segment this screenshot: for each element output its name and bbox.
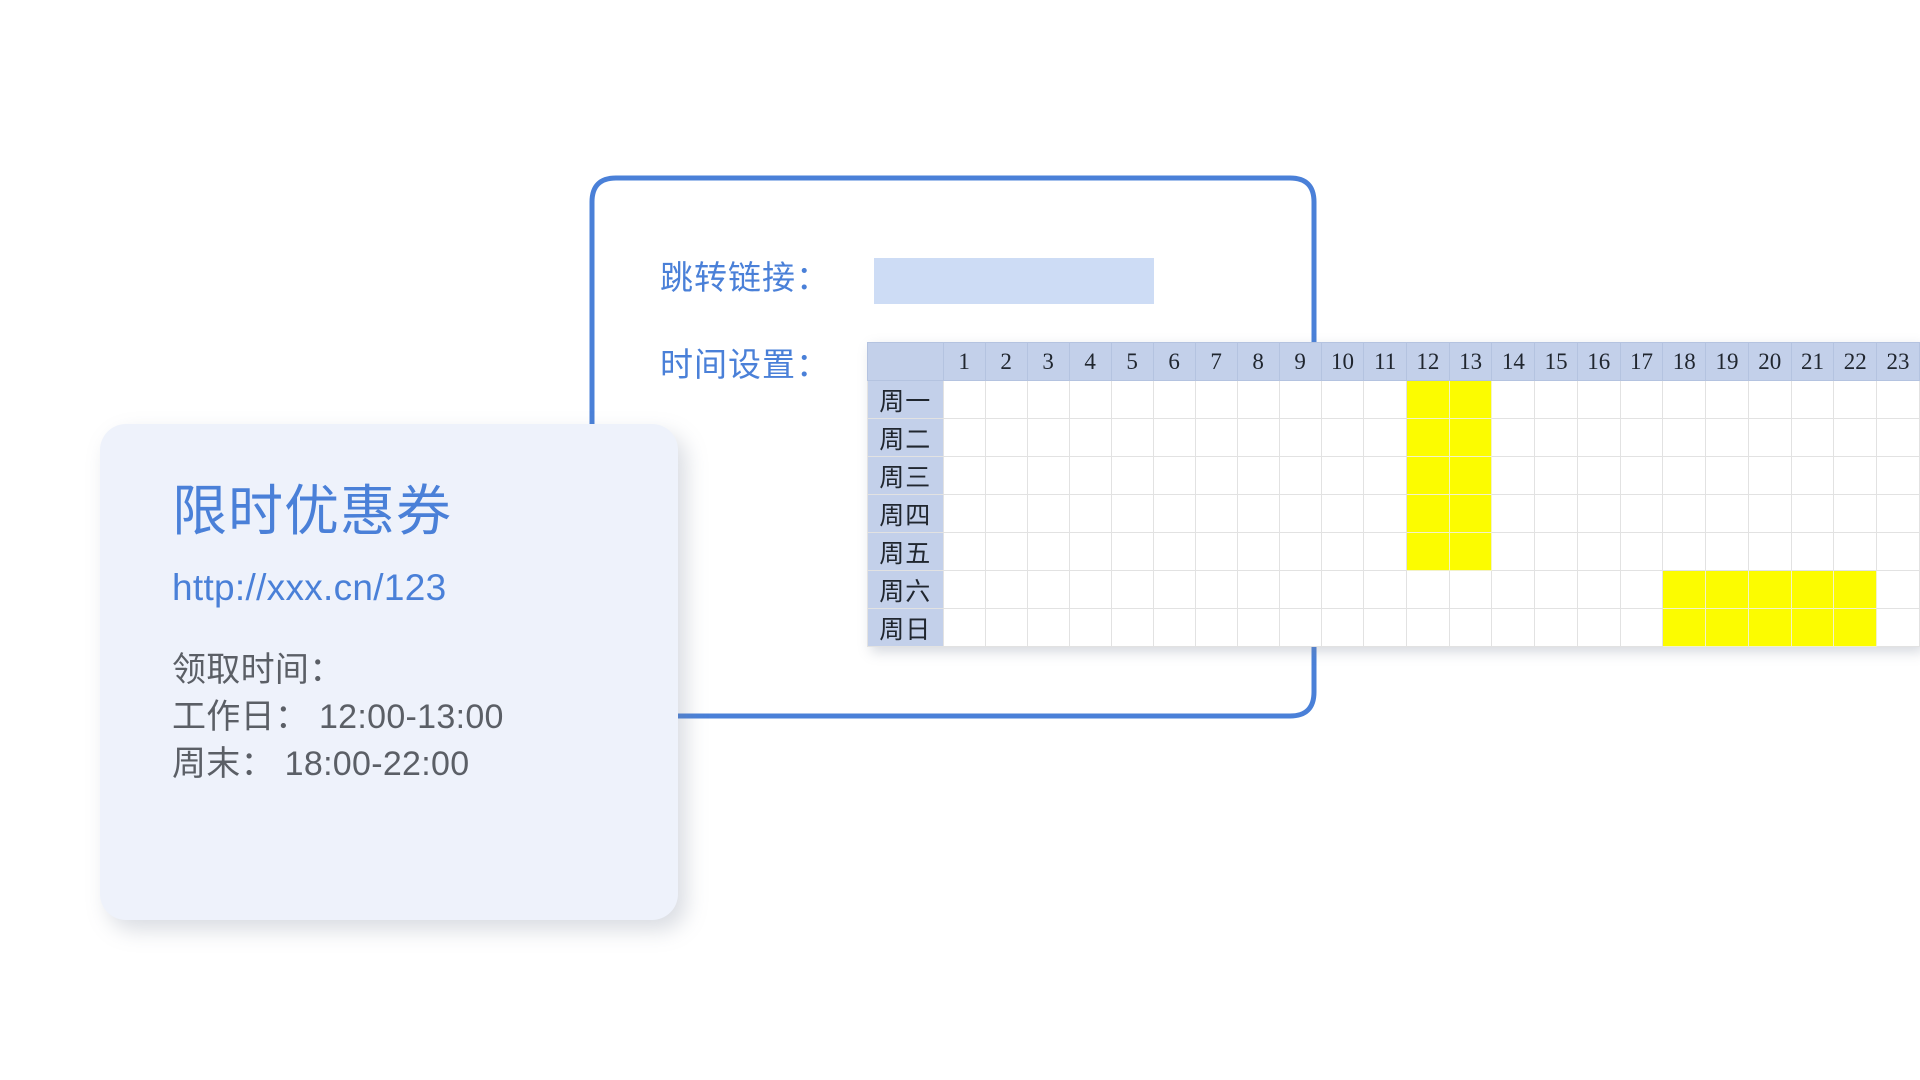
time-cell-周六-12[interactable]	[1407, 571, 1450, 609]
time-cell-周四-21[interactable]	[1791, 495, 1834, 533]
time-cell-周日-18[interactable]	[1663, 609, 1706, 647]
day-label-周二[interactable]: 周二	[867, 419, 943, 457]
time-cell-周三-7[interactable]	[1195, 457, 1237, 495]
time-cell-周五-17[interactable]	[1620, 533, 1663, 571]
time-cell-周一-10[interactable]	[1321, 381, 1364, 419]
time-cell-周二-17[interactable]	[1620, 419, 1663, 457]
time-cell-周三-4[interactable]	[1069, 457, 1111, 495]
day-label-周四[interactable]: 周四	[867, 495, 943, 533]
time-cell-周四-6[interactable]	[1153, 495, 1195, 533]
hour-header-10[interactable]: 10	[1321, 343, 1364, 381]
time-cell-周一-9[interactable]	[1279, 381, 1321, 419]
time-cell-周五-6[interactable]	[1153, 533, 1195, 571]
time-cell-周四-16[interactable]	[1577, 495, 1620, 533]
time-setting-row: 时间设置： 1234567891011121314151617181920212…	[660, 342, 1920, 647]
time-cell-周一-14[interactable]	[1492, 381, 1535, 419]
coupon-time-block: 领取时间： 工作日： 12:00-13:00 周末： 18:00-22:00	[172, 647, 678, 788]
hour-header-8[interactable]: 8	[1237, 343, 1279, 381]
time-cell-周日-2[interactable]	[985, 609, 1027, 647]
hour-header-6[interactable]: 6	[1153, 343, 1195, 381]
day-label-周三[interactable]: 周三	[867, 457, 943, 495]
time-cell-周一-15[interactable]	[1535, 381, 1578, 419]
time-cell-周三-9[interactable]	[1279, 457, 1321, 495]
hour-header-12[interactable]: 12	[1407, 343, 1450, 381]
time-cell-周二-22[interactable]	[1834, 419, 1877, 457]
time-cell-周三-21[interactable]	[1791, 457, 1834, 495]
time-cell-周五-13[interactable]	[1449, 533, 1492, 571]
time-cell-周二-11[interactable]	[1364, 419, 1407, 457]
hour-header-20[interactable]: 20	[1748, 343, 1791, 381]
time-cell-周六-4[interactable]	[1069, 571, 1111, 609]
day-label-周六[interactable]: 周六	[867, 571, 943, 609]
time-cell-周日-13[interactable]	[1449, 609, 1492, 647]
time-cell-周一-18[interactable]	[1663, 381, 1706, 419]
hour-header-4[interactable]: 4	[1069, 343, 1111, 381]
time-cell-周五-5[interactable]	[1111, 533, 1153, 571]
time-cell-周二-14[interactable]	[1492, 419, 1535, 457]
time-cell-周五-14[interactable]	[1492, 533, 1535, 571]
time-cell-周五-15[interactable]	[1535, 533, 1578, 571]
time-cell-周六-13[interactable]	[1449, 571, 1492, 609]
time-cell-周四-14[interactable]	[1492, 495, 1535, 533]
time-cell-周五-19[interactable]	[1706, 533, 1749, 571]
time-cell-周日-5[interactable]	[1111, 609, 1153, 647]
coupon-weekday-time: 工作日： 12:00-13:00	[172, 694, 678, 741]
time-cell-周二-21[interactable]	[1791, 419, 1834, 457]
time-cell-周六-23[interactable]	[1877, 571, 1920, 609]
time-cell-周一-6[interactable]	[1153, 381, 1195, 419]
time-grid-row[interactable]: 周五	[867, 533, 1919, 571]
time-cell-周五-3[interactable]	[1027, 533, 1069, 571]
time-cell-周二-12[interactable]	[1407, 419, 1450, 457]
hour-header-9[interactable]: 9	[1279, 343, 1321, 381]
coupon-time-label: 领取时间：	[172, 647, 678, 694]
time-cell-周六-16[interactable]	[1577, 571, 1620, 609]
time-cell-周二-15[interactable]	[1535, 419, 1578, 457]
hour-header-14[interactable]: 14	[1492, 343, 1535, 381]
hour-header-19[interactable]: 19	[1706, 343, 1749, 381]
time-cell-周五-11[interactable]	[1364, 533, 1407, 571]
time-cell-周五-16[interactable]	[1577, 533, 1620, 571]
time-cell-周三-18[interactable]	[1663, 457, 1706, 495]
time-cell-周四-20[interactable]	[1748, 495, 1791, 533]
hour-header-17[interactable]: 17	[1620, 343, 1663, 381]
time-cell-周日-11[interactable]	[1364, 609, 1407, 647]
time-cell-周三-17[interactable]	[1620, 457, 1663, 495]
time-grid-body[interactable]: 周一周二周三周四周五周六周日	[867, 381, 1919, 647]
time-cell-周一-11[interactable]	[1364, 381, 1407, 419]
time-cell-周一-2[interactable]	[985, 381, 1027, 419]
time-cell-周二-18[interactable]	[1663, 419, 1706, 457]
time-cell-周三-22[interactable]	[1834, 457, 1877, 495]
time-cell-周四-12[interactable]	[1407, 495, 1450, 533]
time-cell-周一-3[interactable]	[1027, 381, 1069, 419]
time-cell-周三-23[interactable]	[1877, 457, 1920, 495]
time-cell-周三-2[interactable]	[985, 457, 1027, 495]
time-cell-周日-6[interactable]	[1153, 609, 1195, 647]
time-cell-周日-4[interactable]	[1069, 609, 1111, 647]
hour-header-row: 1234567891011121314151617181920212223	[867, 343, 1919, 381]
hour-header-2[interactable]: 2	[985, 343, 1027, 381]
time-cell-周二-3[interactable]	[1027, 419, 1069, 457]
time-cell-周三-12[interactable]	[1407, 457, 1450, 495]
time-cell-周三-11[interactable]	[1364, 457, 1407, 495]
time-cell-周二-1[interactable]	[943, 419, 985, 457]
time-cell-周一-22[interactable]	[1834, 381, 1877, 419]
time-cell-周日-12[interactable]	[1407, 609, 1450, 647]
time-cell-周三-15[interactable]	[1535, 457, 1578, 495]
coupon-url-link[interactable]: http://xxx.cn/123	[172, 568, 678, 609]
time-cell-周四-13[interactable]	[1449, 495, 1492, 533]
hour-header-23[interactable]: 23	[1877, 343, 1920, 381]
time-cell-周一-19[interactable]	[1706, 381, 1749, 419]
time-cell-周四-5[interactable]	[1111, 495, 1153, 533]
hour-header-3[interactable]: 3	[1027, 343, 1069, 381]
time-cell-周二-8[interactable]	[1237, 419, 1279, 457]
time-grid-row[interactable]: 周一	[867, 381, 1919, 419]
time-cell-周日-21[interactable]	[1791, 609, 1834, 647]
time-cell-周日-3[interactable]	[1027, 609, 1069, 647]
time-cell-周二-16[interactable]	[1577, 419, 1620, 457]
day-label-周日[interactable]: 周日	[867, 609, 943, 647]
time-cell-周二-10[interactable]	[1321, 419, 1364, 457]
time-cell-周三-20[interactable]	[1748, 457, 1791, 495]
time-grid-row[interactable]: 周二	[867, 419, 1919, 457]
hour-header-1[interactable]: 1	[943, 343, 985, 381]
time-cell-周日-22[interactable]	[1834, 609, 1877, 647]
time-cell-周六-8[interactable]	[1237, 571, 1279, 609]
hour-header-15[interactable]: 15	[1535, 343, 1578, 381]
hour-header-18[interactable]: 18	[1663, 343, 1706, 381]
time-cell-周二-6[interactable]	[1153, 419, 1195, 457]
time-cell-周六-2[interactable]	[985, 571, 1027, 609]
time-cell-周六-7[interactable]	[1195, 571, 1237, 609]
time-cell-周六-21[interactable]	[1791, 571, 1834, 609]
time-grid-container[interactable]: 1234567891011121314151617181920212223 周一…	[867, 342, 1920, 647]
time-cell-周三-8[interactable]	[1237, 457, 1279, 495]
hour-header-13[interactable]: 13	[1449, 343, 1492, 381]
time-cell-周二-19[interactable]	[1706, 419, 1749, 457]
time-cell-周五-8[interactable]	[1237, 533, 1279, 571]
time-cell-周日-14[interactable]	[1492, 609, 1535, 647]
time-cell-周四-10[interactable]	[1321, 495, 1364, 533]
time-cell-周五-21[interactable]	[1791, 533, 1834, 571]
time-cell-周四-23[interactable]	[1877, 495, 1920, 533]
time-cell-周二-20[interactable]	[1748, 419, 1791, 457]
time-cell-周一-8[interactable]	[1237, 381, 1279, 419]
time-cell-周三-6[interactable]	[1153, 457, 1195, 495]
hour-header-21[interactable]: 21	[1791, 343, 1834, 381]
time-cell-周五-12[interactable]	[1407, 533, 1450, 571]
time-cell-周五-2[interactable]	[985, 533, 1027, 571]
time-grid-row[interactable]: 周日	[867, 609, 1919, 647]
time-cell-周二-7[interactable]	[1195, 419, 1237, 457]
time-cell-周四-7[interactable]	[1195, 495, 1237, 533]
jump-link-label: 跳转链接：	[660, 255, 860, 301]
time-cell-周五-23[interactable]	[1877, 533, 1920, 571]
time-grid-row[interactable]: 周四	[867, 495, 1919, 533]
time-cell-周四-19[interactable]	[1706, 495, 1749, 533]
time-cell-周三-13[interactable]	[1449, 457, 1492, 495]
time-cell-周日-20[interactable]	[1748, 609, 1791, 647]
time-cell-周二-13[interactable]	[1449, 419, 1492, 457]
time-cell-周三-3[interactable]	[1027, 457, 1069, 495]
time-cell-周五-22[interactable]	[1834, 533, 1877, 571]
time-cell-周六-22[interactable]	[1834, 571, 1877, 609]
hour-header-22[interactable]: 22	[1834, 343, 1877, 381]
time-cell-周日-7[interactable]	[1195, 609, 1237, 647]
time-cell-周五-18[interactable]	[1663, 533, 1706, 571]
time-cell-周日-1[interactable]	[943, 609, 985, 647]
time-cell-周五-20[interactable]	[1748, 533, 1791, 571]
time-cell-周三-16[interactable]	[1577, 457, 1620, 495]
time-cell-周六-1[interactable]	[943, 571, 985, 609]
time-cell-周一-4[interactable]	[1069, 381, 1111, 419]
time-cell-周六-10[interactable]	[1321, 571, 1364, 609]
time-grid-table[interactable]: 1234567891011121314151617181920212223 周一…	[867, 342, 1920, 647]
time-cell-周四-11[interactable]	[1364, 495, 1407, 533]
time-cell-周五-7[interactable]	[1195, 533, 1237, 571]
time-cell-周六-14[interactable]	[1492, 571, 1535, 609]
time-setting-label: 时间设置：	[660, 342, 853, 388]
time-cell-周六-17[interactable]	[1620, 571, 1663, 609]
hour-header-11[interactable]: 11	[1364, 343, 1407, 381]
time-cell-周日-8[interactable]	[1237, 609, 1279, 647]
day-label-周一[interactable]: 周一	[867, 381, 943, 419]
time-cell-周一-23[interactable]	[1877, 381, 1920, 419]
time-cell-周一-21[interactable]	[1791, 381, 1834, 419]
time-cell-周二-2[interactable]	[985, 419, 1027, 457]
time-cell-周一-1[interactable]	[943, 381, 985, 419]
time-cell-周六-3[interactable]	[1027, 571, 1069, 609]
time-cell-周三-14[interactable]	[1492, 457, 1535, 495]
time-cell-周五-10[interactable]	[1321, 533, 1364, 571]
time-cell-周四-9[interactable]	[1279, 495, 1321, 533]
time-cell-周五-9[interactable]	[1279, 533, 1321, 571]
hour-header-16[interactable]: 16	[1577, 343, 1620, 381]
time-cell-周三-1[interactable]	[943, 457, 985, 495]
settings-form: 跳转链接： 时间设置： 1234567891011121314151617181…	[660, 255, 1920, 647]
time-cell-周六-15[interactable]	[1535, 571, 1578, 609]
time-cell-周四-1[interactable]	[943, 495, 985, 533]
time-grid-header: 1234567891011121314151617181920212223	[867, 343, 1919, 381]
time-cell-周六-11[interactable]	[1364, 571, 1407, 609]
time-cell-周三-19[interactable]	[1706, 457, 1749, 495]
time-cell-周日-19[interactable]	[1706, 609, 1749, 647]
time-cell-周一-20[interactable]	[1748, 381, 1791, 419]
time-cell-周日-9[interactable]	[1279, 609, 1321, 647]
time-cell-周四-8[interactable]	[1237, 495, 1279, 533]
time-cell-周六-9[interactable]	[1279, 571, 1321, 609]
hour-header-7[interactable]: 7	[1195, 343, 1237, 381]
time-cell-周六-19[interactable]	[1706, 571, 1749, 609]
coupon-weekend-time: 周末： 18:00-22:00	[172, 741, 678, 788]
grid-corner-cell	[867, 343, 943, 381]
time-cell-周一-5[interactable]	[1111, 381, 1153, 419]
time-cell-周六-20[interactable]	[1748, 571, 1791, 609]
time-cell-周三-5[interactable]	[1111, 457, 1153, 495]
time-cell-周日-16[interactable]	[1577, 609, 1620, 647]
time-cell-周一-17[interactable]	[1620, 381, 1663, 419]
time-cell-周一-12[interactable]	[1407, 381, 1450, 419]
time-cell-周日-23[interactable]	[1877, 609, 1920, 647]
time-cell-周六-5[interactable]	[1111, 571, 1153, 609]
time-grid-row[interactable]: 周三	[867, 457, 1919, 495]
time-cell-周四-4[interactable]	[1069, 495, 1111, 533]
time-cell-周一-16[interactable]	[1577, 381, 1620, 419]
coupon-title: 限时优惠券	[172, 482, 678, 541]
time-cell-周四-18[interactable]	[1663, 495, 1706, 533]
time-cell-周日-10[interactable]	[1321, 609, 1364, 647]
time-cell-周二-23[interactable]	[1877, 419, 1920, 457]
jump-link-row: 跳转链接：	[660, 255, 1920, 304]
time-cell-周四-3[interactable]	[1027, 495, 1069, 533]
time-cell-周日-17[interactable]	[1620, 609, 1663, 647]
time-cell-周一-7[interactable]	[1195, 381, 1237, 419]
time-cell-周五-1[interactable]	[943, 533, 985, 571]
time-cell-周六-6[interactable]	[1153, 571, 1195, 609]
time-grid-row[interactable]: 周六	[867, 571, 1919, 609]
time-cell-周四-17[interactable]	[1620, 495, 1663, 533]
time-cell-周日-15[interactable]	[1535, 609, 1578, 647]
time-cell-周五-4[interactable]	[1069, 533, 1111, 571]
time-cell-周三-10[interactable]	[1321, 457, 1364, 495]
time-cell-周四-22[interactable]	[1834, 495, 1877, 533]
time-cell-周二-5[interactable]	[1111, 419, 1153, 457]
time-cell-周六-18[interactable]	[1663, 571, 1706, 609]
coupon-preview-card[interactable]: 限时优惠券 http://xxx.cn/123 领取时间： 工作日： 12:00…	[100, 424, 678, 920]
jump-link-input[interactable]	[874, 258, 1154, 304]
time-cell-周四-15[interactable]	[1535, 495, 1578, 533]
time-cell-周一-13[interactable]	[1449, 381, 1492, 419]
hour-header-5[interactable]: 5	[1111, 343, 1153, 381]
day-label-周五[interactable]: 周五	[867, 533, 943, 571]
time-cell-周二-9[interactable]	[1279, 419, 1321, 457]
time-cell-周四-2[interactable]	[985, 495, 1027, 533]
time-cell-周二-4[interactable]	[1069, 419, 1111, 457]
